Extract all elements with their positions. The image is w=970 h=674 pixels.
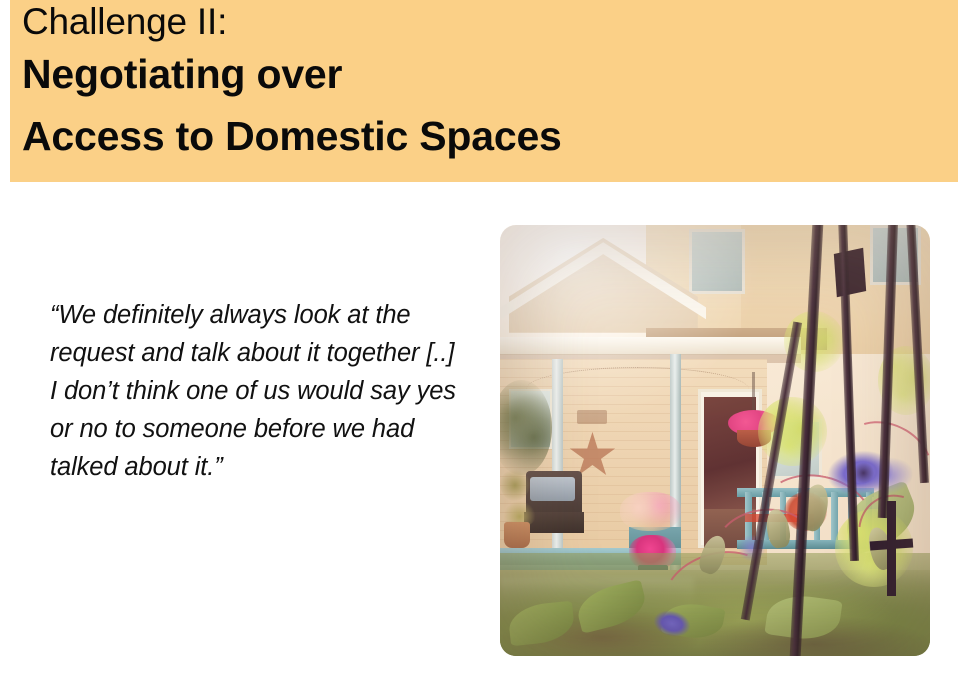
quote-text: “We definitely always look at the reques… [50, 296, 465, 486]
title-band: Challenge II: Negotiating over Access to… [10, 0, 958, 182]
porch-photograph [500, 225, 930, 656]
title-kicker: Challenge II: [22, 0, 227, 45]
photo-illustration [500, 225, 930, 656]
photo-vignette [500, 225, 930, 656]
page-title-line-1: Negotiating over [22, 48, 342, 100]
page-title-line-2: Access to Domestic Spaces [22, 110, 562, 162]
